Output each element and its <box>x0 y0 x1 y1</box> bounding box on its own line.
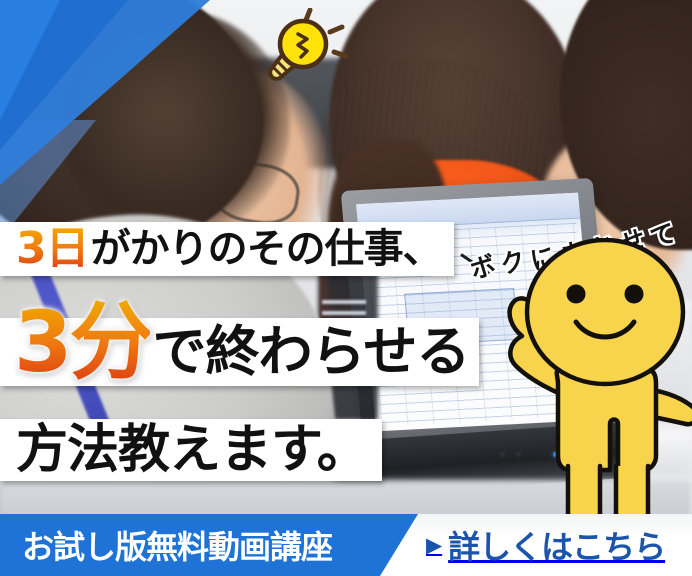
bottom-bar: お試し版無料動画講座 ▶ 詳しくはこちら <box>0 514 692 576</box>
headline-line-2: 3分 で終わらせる <box>0 318 479 386</box>
headline-accent-3days: 3日 <box>16 227 89 271</box>
yellow-mascot-character <box>498 238 692 528</box>
headline-line-3-text: 方法教えます。 <box>16 424 368 476</box>
lightbulb-icon <box>258 8 350 86</box>
headline-line-1: 3日 がかりのその仕事、 <box>0 222 454 276</box>
cta-primary-button[interactable]: お試し版無料動画講座 <box>0 514 418 576</box>
mascot-eye-left <box>567 285 586 304</box>
cta-primary-label: お試し版無料動画講座 <box>22 522 332 568</box>
headline-line-1-text: がかりのその仕事、 <box>91 229 442 269</box>
play-arrow-icon: ▶ <box>426 535 442 556</box>
cta-details-label: 詳しくはこちら <box>448 522 665 568</box>
mascot-eye-right <box>625 285 644 304</box>
headline-accent-3minutes: 3分 <box>14 300 150 384</box>
headline-line-2-text: で終わらせる <box>152 325 469 379</box>
cta-details-link[interactable]: ▶ 詳しくはこちら <box>418 514 692 576</box>
promo-banner: 3日 がかりのその仕事、 3分 で終わらせる 方法教えます。 ボクにまかせて <box>0 0 692 576</box>
headline-line-3: 方法教えます。 <box>0 419 382 481</box>
